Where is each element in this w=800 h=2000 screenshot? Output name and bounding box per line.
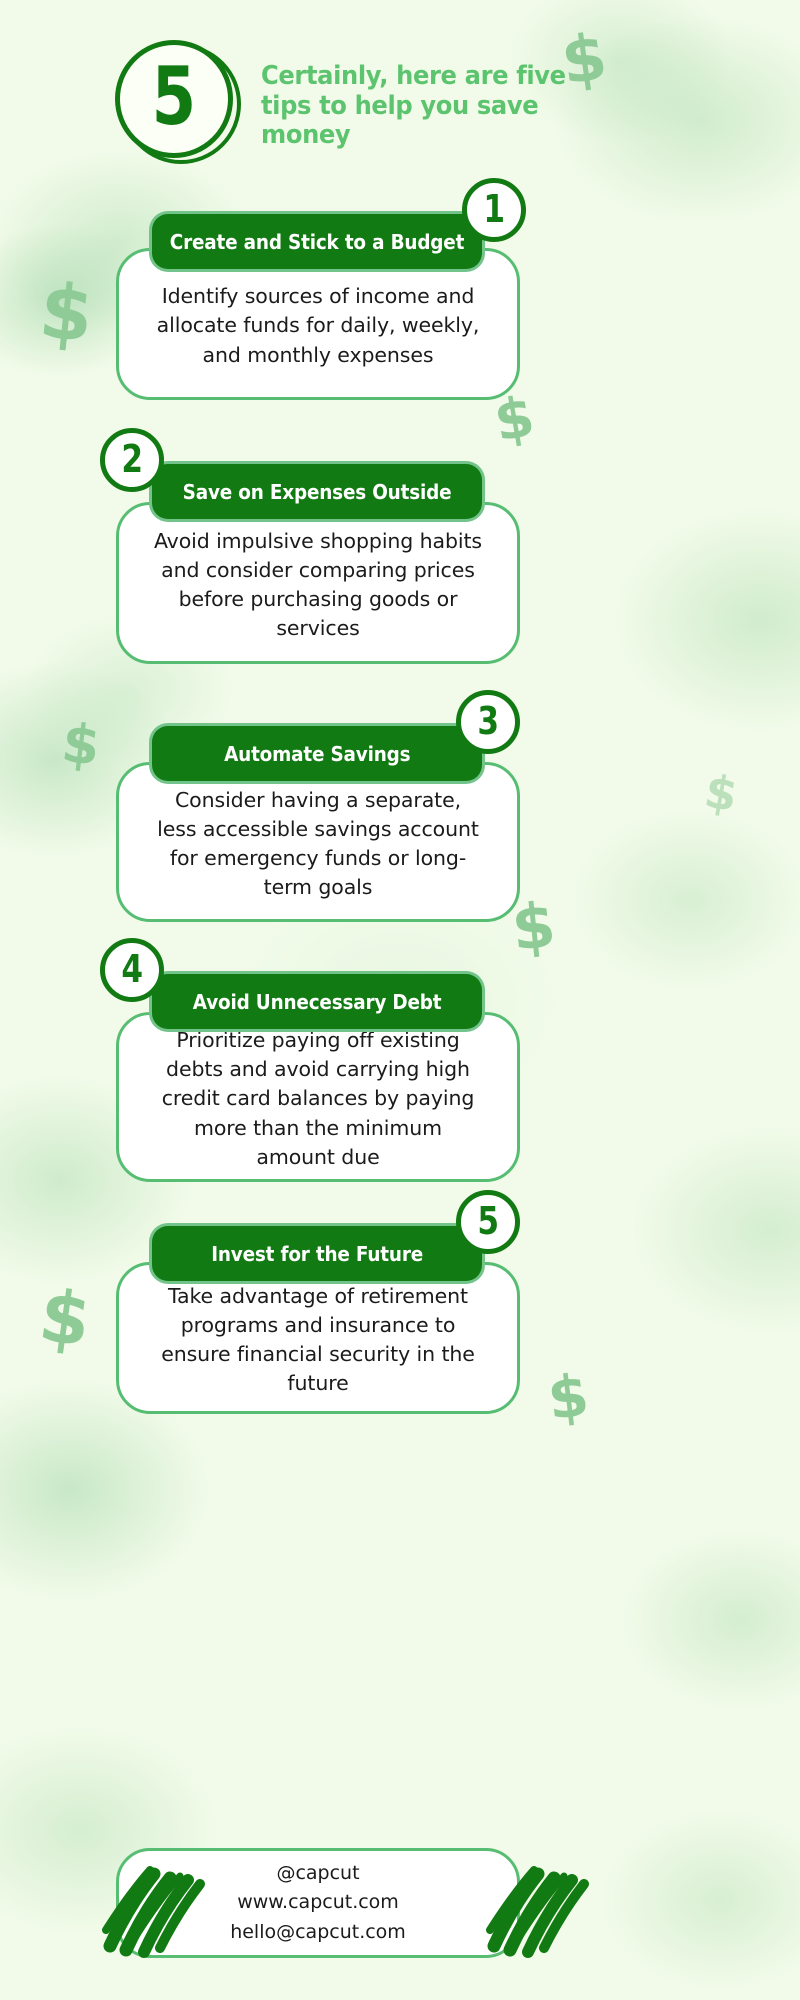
- infographic-header: 5 Certainly, here are five tips to help …: [0, 40, 800, 180]
- tip-badge-1: 1: [462, 178, 526, 242]
- tip-title-1: Create and Stick to a Budget: [170, 230, 464, 254]
- tip-body-text-1: Identify sources of income and allocate …: [153, 282, 483, 369]
- dollar-icon: $: [490, 389, 538, 451]
- tip-badge-2: 2: [100, 428, 164, 492]
- tip-body-text-3: Consider having a separate, less accessi…: [153, 786, 483, 902]
- header-badge: 5: [115, 40, 245, 170]
- tip-body-5: Take advantage of retirement programs an…: [116, 1262, 520, 1414]
- tip-badge-3: 3: [456, 690, 520, 754]
- dollar-icon: $: [509, 894, 558, 960]
- dollar-icon: $: [36, 272, 97, 353]
- footer-email[interactable]: hello@capcut.com: [230, 1918, 406, 1947]
- dollar-icon: $: [35, 1279, 95, 1357]
- dollar-icon: $: [701, 768, 741, 819]
- tip-body-4: Prioritize paying off existing debts and…: [116, 1012, 520, 1182]
- footer-contact-card: @capcut www.capcut.com hello@capcut.com: [116, 1848, 520, 1958]
- tip-header-2[interactable]: Save on Expenses Outside: [152, 464, 482, 519]
- tip-body-text-4: Prioritize paying off existing debts and…: [153, 1026, 483, 1172]
- tip-badge-number-3: 3: [477, 702, 499, 740]
- tip-body-text-5: Take advantage of retirement programs an…: [153, 1282, 483, 1398]
- tip-body-1: Identify sources of income and allocate …: [116, 248, 520, 400]
- tip-badge-number-1: 1: [483, 190, 505, 228]
- tip-badge-4: 4: [100, 938, 164, 1002]
- tip-header-5[interactable]: Invest for the Future: [152, 1226, 482, 1281]
- page-title: Certainly, here are five tips to help yo…: [261, 62, 568, 151]
- dollar-icon: $: [59, 716, 103, 774]
- header-badge-number: 5: [152, 57, 197, 137]
- header-badge-inner-ring: 5: [115, 40, 233, 158]
- infographic-page: $ $ $ $ $ $ $ $ 5 Certainly, here are fi…: [0, 0, 800, 2000]
- footer-website[interactable]: www.capcut.com: [237, 1888, 399, 1917]
- tip-title-3: Automate Savings: [224, 742, 410, 766]
- tip-header-4[interactable]: Avoid Unnecessary Debt: [152, 974, 482, 1029]
- tip-title-5: Invest for the Future: [211, 1242, 423, 1266]
- tip-body-3: Consider having a separate, less accessi…: [116, 762, 520, 922]
- tip-badge-number-4: 4: [121, 950, 143, 988]
- tip-badge-number-2: 2: [121, 440, 143, 478]
- dollar-icon: $: [545, 1366, 592, 1428]
- tip-badge-number-5: 5: [477, 1202, 499, 1240]
- tip-title-4: Avoid Unnecessary Debt: [193, 990, 442, 1014]
- tip-body-2: Avoid impulsive shopping habits and cons…: [116, 502, 520, 664]
- tip-body-text-2: Avoid impulsive shopping habits and cons…: [153, 527, 483, 643]
- tip-header-3[interactable]: Automate Savings: [152, 726, 482, 781]
- tip-badge-5: 5: [456, 1190, 520, 1254]
- tip-header-1[interactable]: Create and Stick to a Budget: [152, 214, 482, 269]
- tip-title-2: Save on Expenses Outside: [183, 480, 452, 504]
- footer-handle[interactable]: @capcut: [276, 1859, 359, 1888]
